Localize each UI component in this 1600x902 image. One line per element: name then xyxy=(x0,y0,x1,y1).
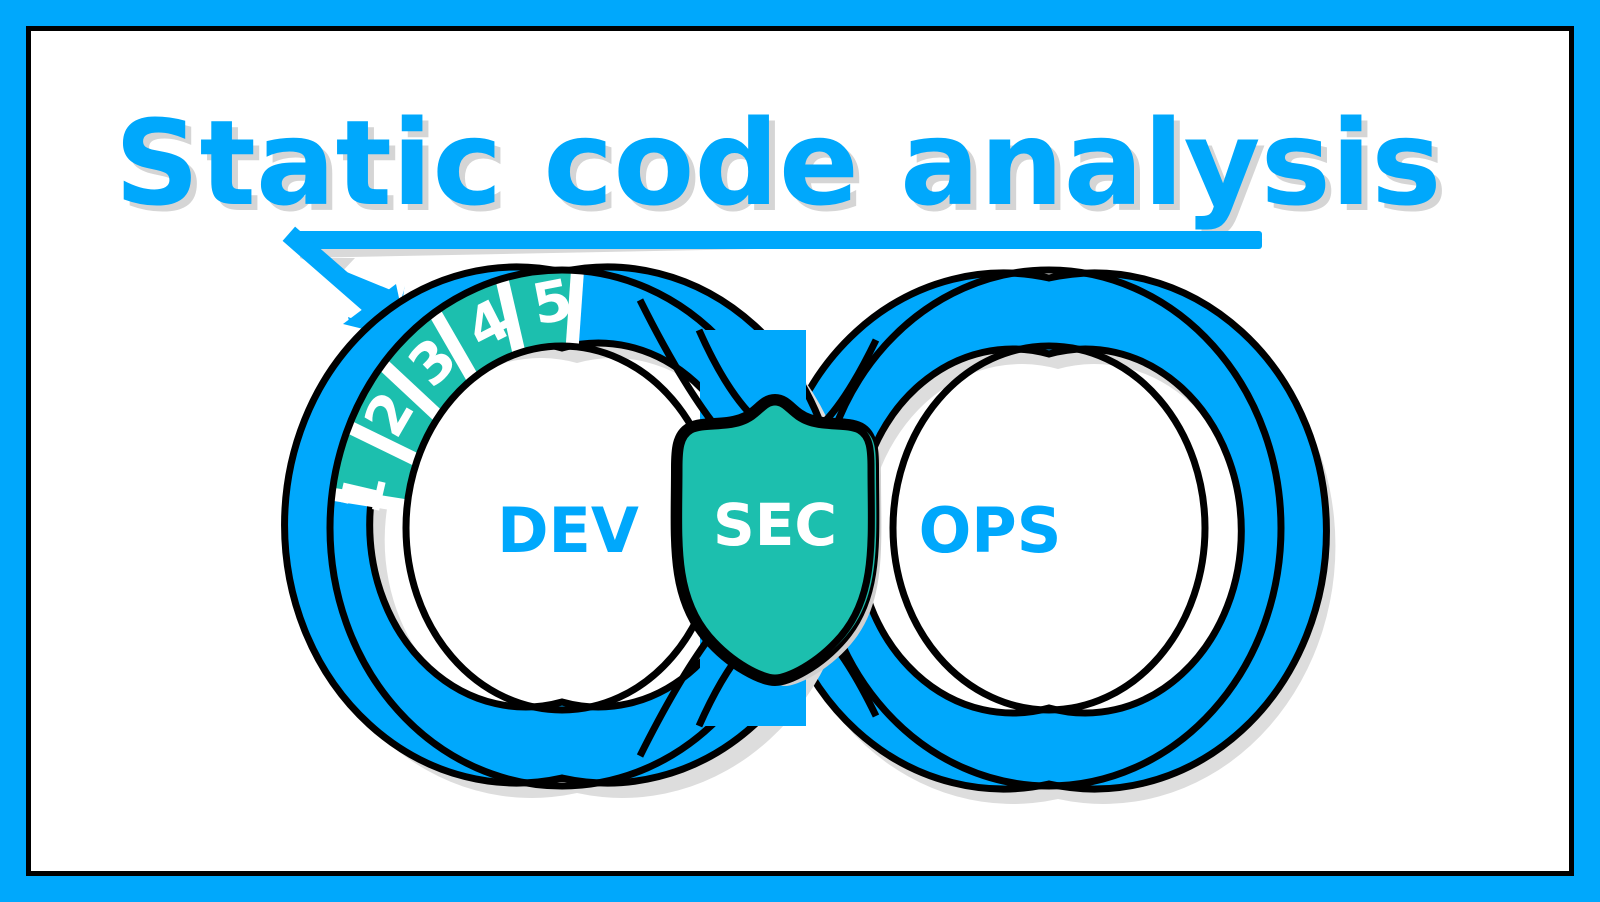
sec-label: SEC xyxy=(713,491,837,559)
artwork-layer: Static code analysis Static code analysi… xyxy=(31,31,1569,871)
sec-shield: SEC xyxy=(679,402,882,686)
title-group: Static code analysis Static code analysi… xyxy=(114,94,1447,238)
ops-label: OPS xyxy=(919,494,1062,567)
page-title: Static code analysis xyxy=(114,94,1441,232)
dev-label: DEV xyxy=(497,494,639,567)
devsecops-illustration: Static code analysis Static code analysi… xyxy=(31,31,1569,871)
title-underline xyxy=(292,231,1262,249)
poster-canvas: Static code analysis Static code analysi… xyxy=(31,31,1569,871)
poster-root: Static code analysis Static code analysi… xyxy=(0,0,1600,902)
